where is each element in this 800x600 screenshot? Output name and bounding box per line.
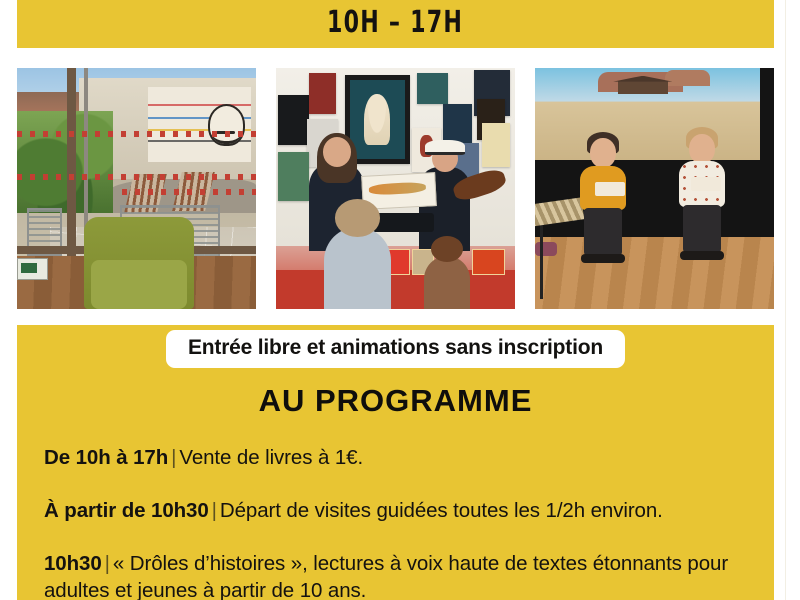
photo1-window-dots-middle xyxy=(17,174,256,180)
photo3-music-stand-pole xyxy=(540,217,543,299)
mural-line-red xyxy=(148,104,251,106)
photo3-stool xyxy=(535,242,557,256)
photo2-book-display-right xyxy=(472,249,505,276)
photo3-reader-left-boots xyxy=(581,254,625,263)
poster-page: 10H – 17H xyxy=(0,0,786,600)
photo2-poster-green xyxy=(278,152,309,200)
programme-heading: AU PROGRAMME xyxy=(17,383,774,419)
programme-item-separator: | xyxy=(209,499,220,522)
hours-band: 10H – 17H xyxy=(17,0,774,48)
photo3-reader-right-head xyxy=(689,134,715,164)
programme-item-time: 10h30 xyxy=(44,552,102,575)
photo3-reader-left xyxy=(573,136,633,300)
photo-reading-on-stage xyxy=(535,68,774,309)
photo2-poster-figure-hair xyxy=(367,112,383,125)
free-entry-badge: Entrée libre et animations sans inscript… xyxy=(166,330,625,368)
photo3-stage-floor xyxy=(535,237,774,309)
photo1-window-dots-top xyxy=(17,131,256,137)
programme-item-time: De 10h à 17h xyxy=(44,446,168,469)
programme-item: De 10h à 17h|Vente de livres à 1€. xyxy=(44,445,747,471)
photo3-reader-left-trousers xyxy=(584,208,622,256)
hours-text: 10H – 17H xyxy=(327,8,463,38)
photo2-child-right xyxy=(424,256,469,309)
photo-interior-terrace xyxy=(17,68,256,309)
photo-storytime-session xyxy=(276,68,515,309)
programme-item-separator: | xyxy=(168,446,179,469)
photo1-mural xyxy=(148,87,251,162)
programme-item-time: À partir de 10h30 xyxy=(44,499,209,522)
photo2-poster-teal xyxy=(417,73,448,104)
photo2-poster-bambi xyxy=(278,95,309,146)
programme-item-description: Vente de livres à 1€. xyxy=(179,446,363,469)
programme-item-description: « Drôles d’histoires », lectures à voix … xyxy=(44,552,728,600)
photo3-reader-left-book xyxy=(595,182,625,196)
photo2-red-carpet xyxy=(276,270,515,309)
photo1-magazine-table xyxy=(17,258,48,280)
photo-strip xyxy=(17,68,774,309)
photo2-child-right-head xyxy=(431,236,464,263)
photo2-child-foreground xyxy=(324,227,391,309)
photo2-poster-yellow xyxy=(482,123,511,166)
photo1-shrubs xyxy=(17,111,113,212)
programme-item: 10h30|« Drôles d’histoires », lectures à… xyxy=(44,551,747,600)
photo3-reader-right-shoes xyxy=(680,251,724,260)
photo1-green-armchair xyxy=(84,217,194,309)
photo3-reader-left-head xyxy=(590,138,616,168)
programme-item-description: Départ de visites guidées toutes les 1/2… xyxy=(220,499,663,522)
photo2-child-foreground-head xyxy=(335,199,380,237)
programme-item: À partir de 10h30|Départ de visites guid… xyxy=(44,498,747,524)
photo2-poster-red xyxy=(309,73,335,114)
mural-portrait-head xyxy=(208,104,245,146)
programme-block: Entrée libre et animations sans inscript… xyxy=(17,325,774,600)
photo3-projected-butte xyxy=(665,70,710,86)
photo1-window-frame xyxy=(67,68,76,256)
photo3-reader-right-book xyxy=(691,177,721,191)
photo1-window-dots-lower xyxy=(122,189,256,195)
programme-list: De 10h à 17h|Vente de livres à 1€. À par… xyxy=(17,445,774,600)
photo3-reader-right-trousers xyxy=(683,205,721,253)
programme-item-separator: | xyxy=(102,552,113,575)
photo2-violinist-hat xyxy=(425,140,464,155)
photo3-reader-right xyxy=(671,131,733,300)
free-entry-badge-row: Entrée libre et animations sans inscript… xyxy=(17,325,774,368)
photo3-projected-cabin xyxy=(618,81,667,94)
